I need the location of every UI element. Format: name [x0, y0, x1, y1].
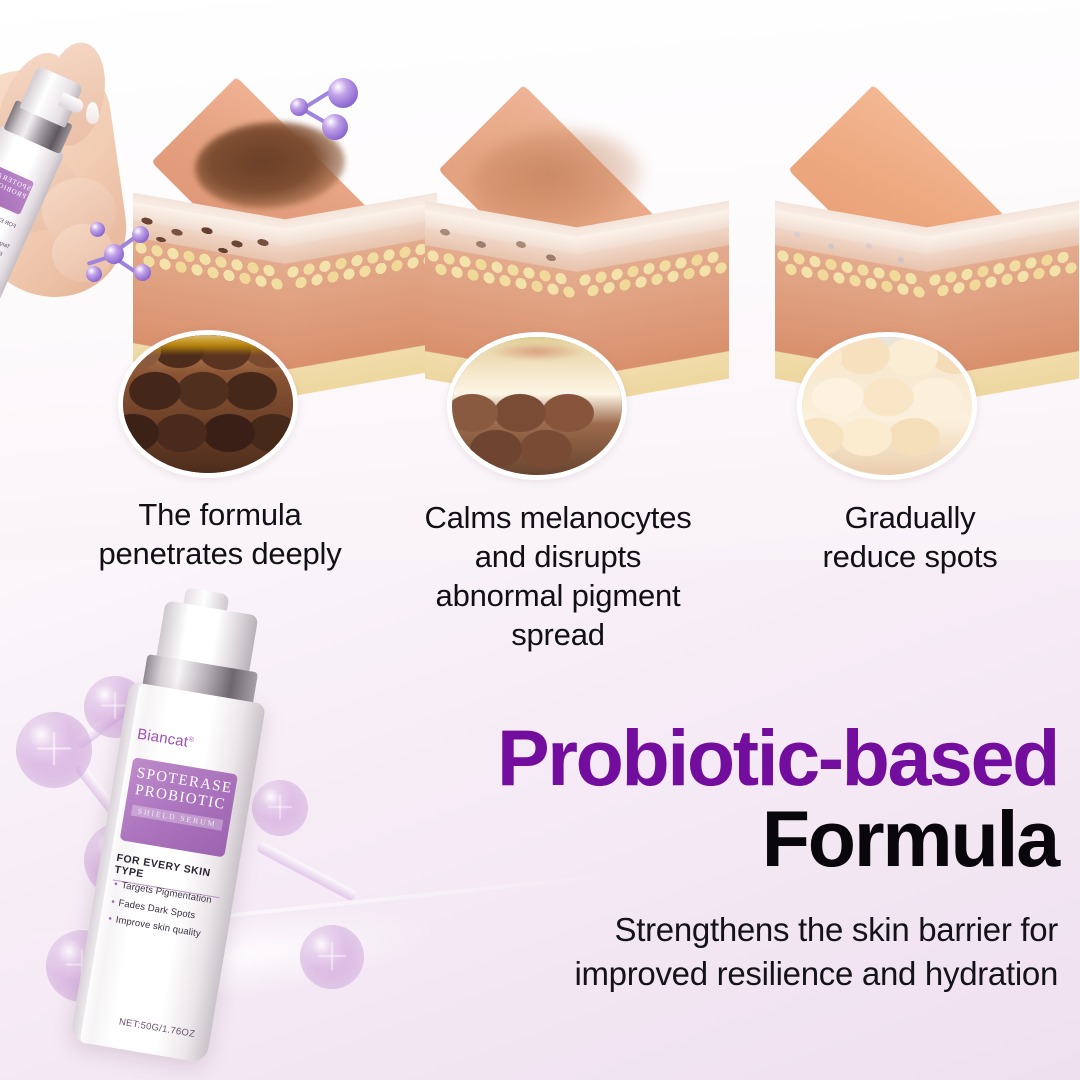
cell-view-mid	[447, 332, 627, 480]
caption-3: Gradually reduce spots	[760, 498, 1060, 576]
serum-molecule-icon	[288, 78, 358, 140]
headline: Probiotic-based Formula	[497, 718, 1058, 879]
caption-2-line-4: spread	[378, 615, 738, 654]
headline-line-1: Probiotic-based	[497, 718, 1058, 799]
caption-2-line-3: abnormal pigment	[378, 576, 738, 615]
cell-view-light	[797, 332, 977, 480]
melanocytes-3	[775, 221, 927, 278]
subtitle: Strengthens the skin barrier for improve…	[574, 908, 1058, 996]
caption-2-line-1: Calms melanocytes	[378, 498, 738, 537]
subtitle-line-2: improved resilience and hydration	[574, 952, 1058, 996]
product-bottle-group[interactable]: Biancat® SPOTERASE PROBIOTIC SHIELD SERU…	[40, 595, 370, 1080]
caption-1: The formula penetrates deeply	[60, 495, 380, 573]
melanocytes-2	[425, 221, 577, 278]
subtitle-line-1: Strengthens the skin barrier for	[574, 908, 1058, 952]
caption-2: Calms melanocytes and disrupts abnormal …	[378, 498, 738, 654]
serum-molecule-icon	[86, 218, 172, 292]
trademark-symbol: ®	[188, 736, 194, 744]
serum-droplet	[86, 102, 99, 124]
caption-1-line-2: penetrates deeply	[60, 534, 380, 573]
product-bottle[interactable]: Biancat® SPOTERASE PROBIOTIC SHIELD SERU…	[70, 597, 280, 1064]
caption-2-line-2: and disrupts	[378, 537, 738, 576]
magnifier-inset-2	[447, 332, 627, 480]
caption-3-line-2: reduce spots	[760, 537, 1060, 576]
magnifier-inset-3	[797, 332, 977, 480]
product-label: SPOTERASE PROBIOTIC SHIELD SERUM	[120, 757, 238, 857]
marketing-canvas: The formula penetrates deeply Calms mela…	[0, 0, 1080, 1080]
caption-1-line-1: The formula	[60, 495, 380, 534]
headline-line-2: Formula	[497, 799, 1058, 880]
hand-holding-bottle: SPOTERASE PROBIOTIC FOR EVERY SKIN TYPE …	[0, 28, 200, 368]
caption-3-line-1: Gradually	[760, 498, 1060, 537]
